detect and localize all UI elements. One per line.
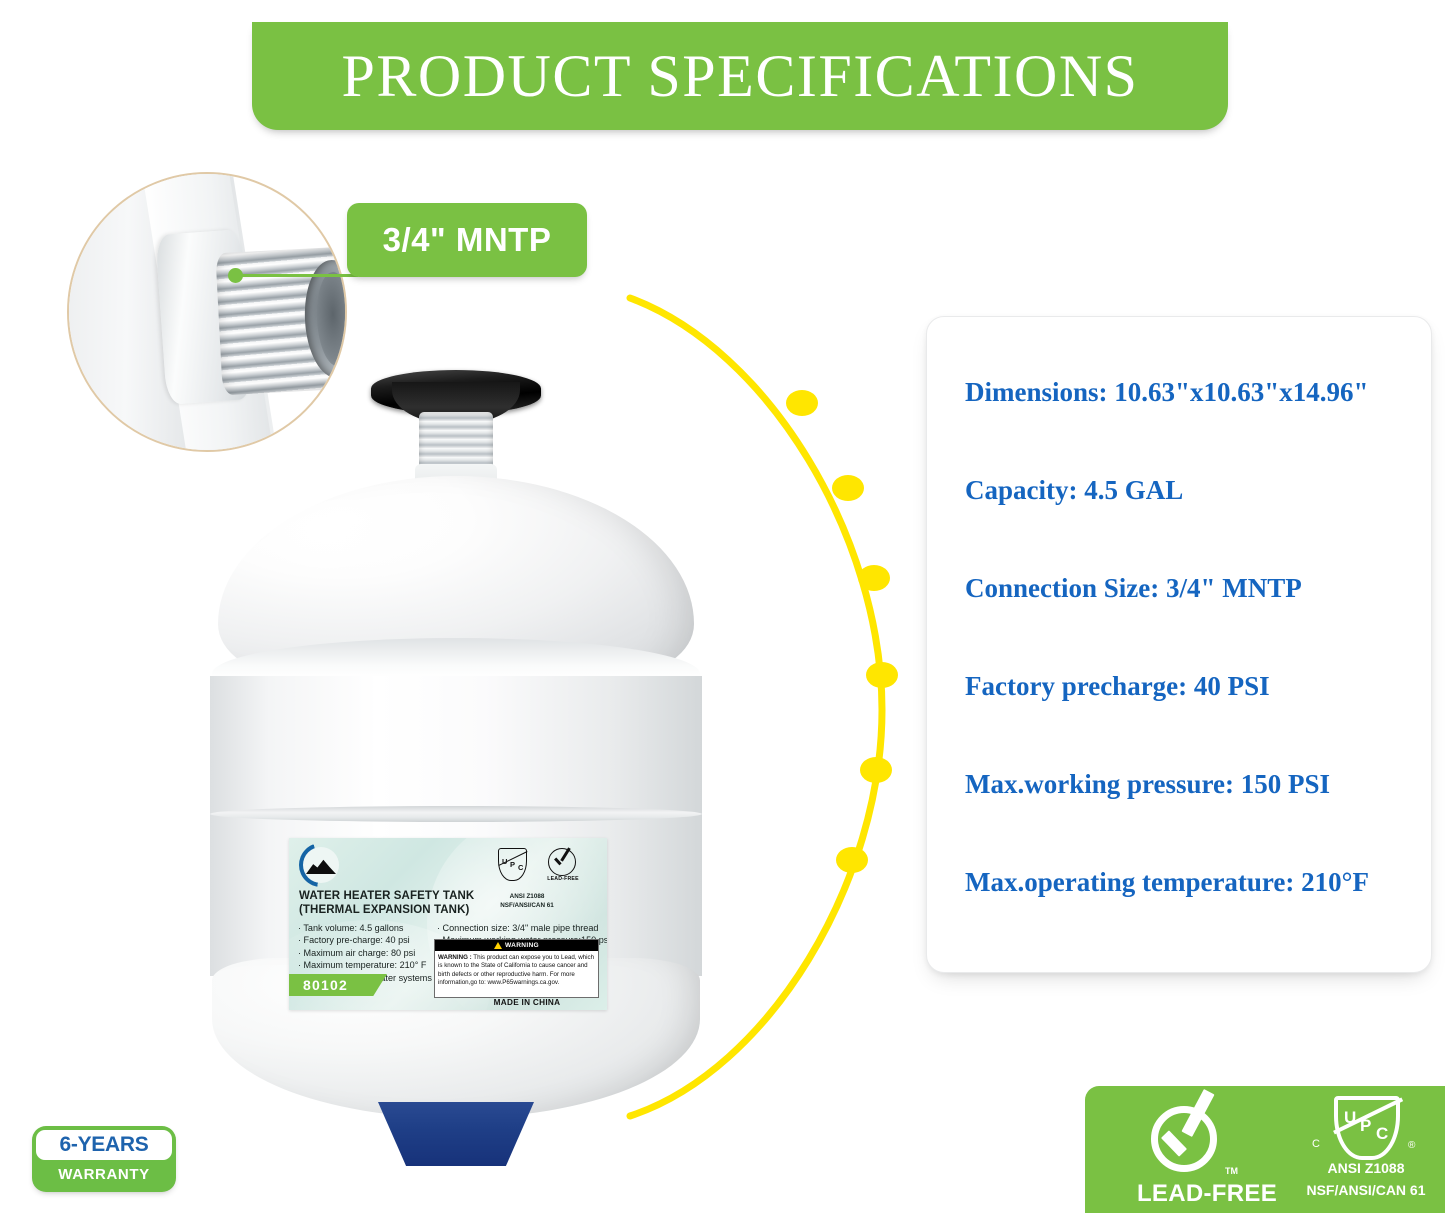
- spec-connector-arc: [620, 290, 920, 1120]
- specifications-panel: Dimensions: 10.63"x10.63"x14.96" Capacit…: [926, 316, 1432, 973]
- specifications-list: Dimensions: 10.63"x10.63"x14.96" Capacit…: [965, 379, 1417, 967]
- upc-letter-c: C: [518, 863, 523, 872]
- product-label: WATER HEATER SAFETY TANK (THERMAL EXPANS…: [289, 838, 607, 1010]
- model-number-tag: 80102: [289, 974, 387, 996]
- lead-free-badge: TM LEAD-FREE: [1133, 1100, 1281, 1204]
- header-banner: PRODUCT SPECIFICATIONS: [252, 22, 1228, 130]
- label-ansi-line2: NSF/ANSI/CAN 61: [467, 901, 587, 910]
- connection-size-callout: 3/4" MNTP: [347, 203, 587, 277]
- warranty-word-label: WARRANTY: [36, 1160, 172, 1188]
- arc-dot-1: [786, 390, 818, 416]
- label-bullet: · Maximum air charge: 80 psi: [298, 947, 444, 959]
- spec-row-dimensions: Dimensions: 10.63"x10.63"x14.96": [965, 379, 1417, 406]
- arc-path: [630, 298, 882, 1116]
- checkmark-icon: [553, 851, 572, 872]
- page-title: PRODUCT SPECIFICATIONS: [341, 46, 1138, 106]
- warning-body-text: WARNING : This product can expose you to…: [435, 951, 598, 990]
- spec-row-max-operating-temperature: Max.operating temperature: 210°F: [965, 869, 1417, 896]
- arc-dot-4: [866, 662, 898, 688]
- lead-free-icon: LEAD-FREE: [542, 848, 584, 892]
- label-title-line1: WATER HEATER SAFETY TANK: [299, 890, 474, 902]
- label-bullet: · Tank volume: 4.5 gallons: [298, 922, 444, 934]
- made-in-label: MADE IN CHINA: [465, 998, 589, 1007]
- warning-triangle-icon: [494, 942, 502, 949]
- upc-shield-outline: U P C: [498, 848, 527, 881]
- spec-row-connection-size: Connection Size: 3/4" MNTP: [965, 575, 1417, 602]
- certification-panel: TM LEAD-FREE U P C C ® ANSI Z1088 NSF/AN…: [1085, 1086, 1445, 1213]
- model-number-label: 80102: [289, 977, 348, 993]
- tank-base-foot: [378, 1102, 534, 1166]
- label-title-line2: (THERMAL EXPANSION TANK): [299, 904, 469, 916]
- arc-dot-3: [858, 565, 890, 591]
- upc-c-mark: C: [1312, 1138, 1320, 1150]
- ansi-line1: ANSI Z1088: [1290, 1160, 1442, 1176]
- threaded-neck: [419, 412, 493, 470]
- brand-logo-icon: [299, 843, 343, 887]
- lead-free-label: LEAD-FREE: [542, 876, 584, 882]
- arc-dot-6: [836, 847, 868, 873]
- label-ansi-text: ANSI Z1088 NSF/ANSI/CAN 61: [467, 892, 587, 910]
- upc-letter-c: C: [1376, 1124, 1388, 1144]
- spec-row-capacity: Capacity: 4.5 GAL: [965, 477, 1417, 504]
- warning-lead-word: WARNING :: [438, 954, 472, 961]
- trademark-symbol: TM: [1225, 1166, 1238, 1176]
- upc-letter-p: P: [1360, 1116, 1371, 1136]
- callout-leader-line: [240, 274, 358, 277]
- warranty-years-label: 6-YEARS: [36, 1130, 172, 1160]
- arc-dot-5: [860, 757, 892, 783]
- label-bullet: · Maximum temperature: 210° F: [298, 959, 444, 971]
- warning-header-bar: WARNING: [435, 940, 598, 951]
- ansi-line2: NSF/ANSI/CAN 61: [1290, 1182, 1442, 1198]
- lead-free-badge-label: LEAD-FREE: [1133, 1180, 1281, 1208]
- upc-letter-p: P: [510, 860, 515, 869]
- upc-badge: U P C C ® ANSI Z1088 NSF/ANSI/CAN 61: [1290, 1094, 1442, 1206]
- upc-letter-u: U: [502, 857, 507, 866]
- prop65-warning-box: WARNING WARNING : This product can expos…: [434, 939, 599, 998]
- connection-size-callout-label: 3/4" MNTP: [383, 221, 552, 259]
- checkmark-icon: [1161, 1102, 1227, 1174]
- spec-row-factory-precharge: Factory precharge: 40 PSI: [965, 673, 1417, 700]
- upc-shield-icon: U P C: [494, 848, 528, 888]
- label-bullet: · Connection size: 3/4" male pipe thread: [437, 922, 605, 934]
- label-ansi-line1: ANSI Z1088: [467, 892, 587, 901]
- warranty-badge: 6-YEARS WARRANTY: [32, 1126, 176, 1192]
- warning-header-label: WARNING: [505, 942, 539, 949]
- spec-row-max-working-pressure: Max.working pressure: 150 PSI: [965, 771, 1417, 798]
- registered-symbol: ®: [1408, 1140, 1415, 1151]
- arc-dot-2: [832, 475, 864, 501]
- upc-letter-u: U: [1344, 1108, 1356, 1128]
- tank-dome-gloss: [268, 500, 418, 582]
- label-bullet: · Factory pre-charge: 40 psi: [298, 934, 444, 946]
